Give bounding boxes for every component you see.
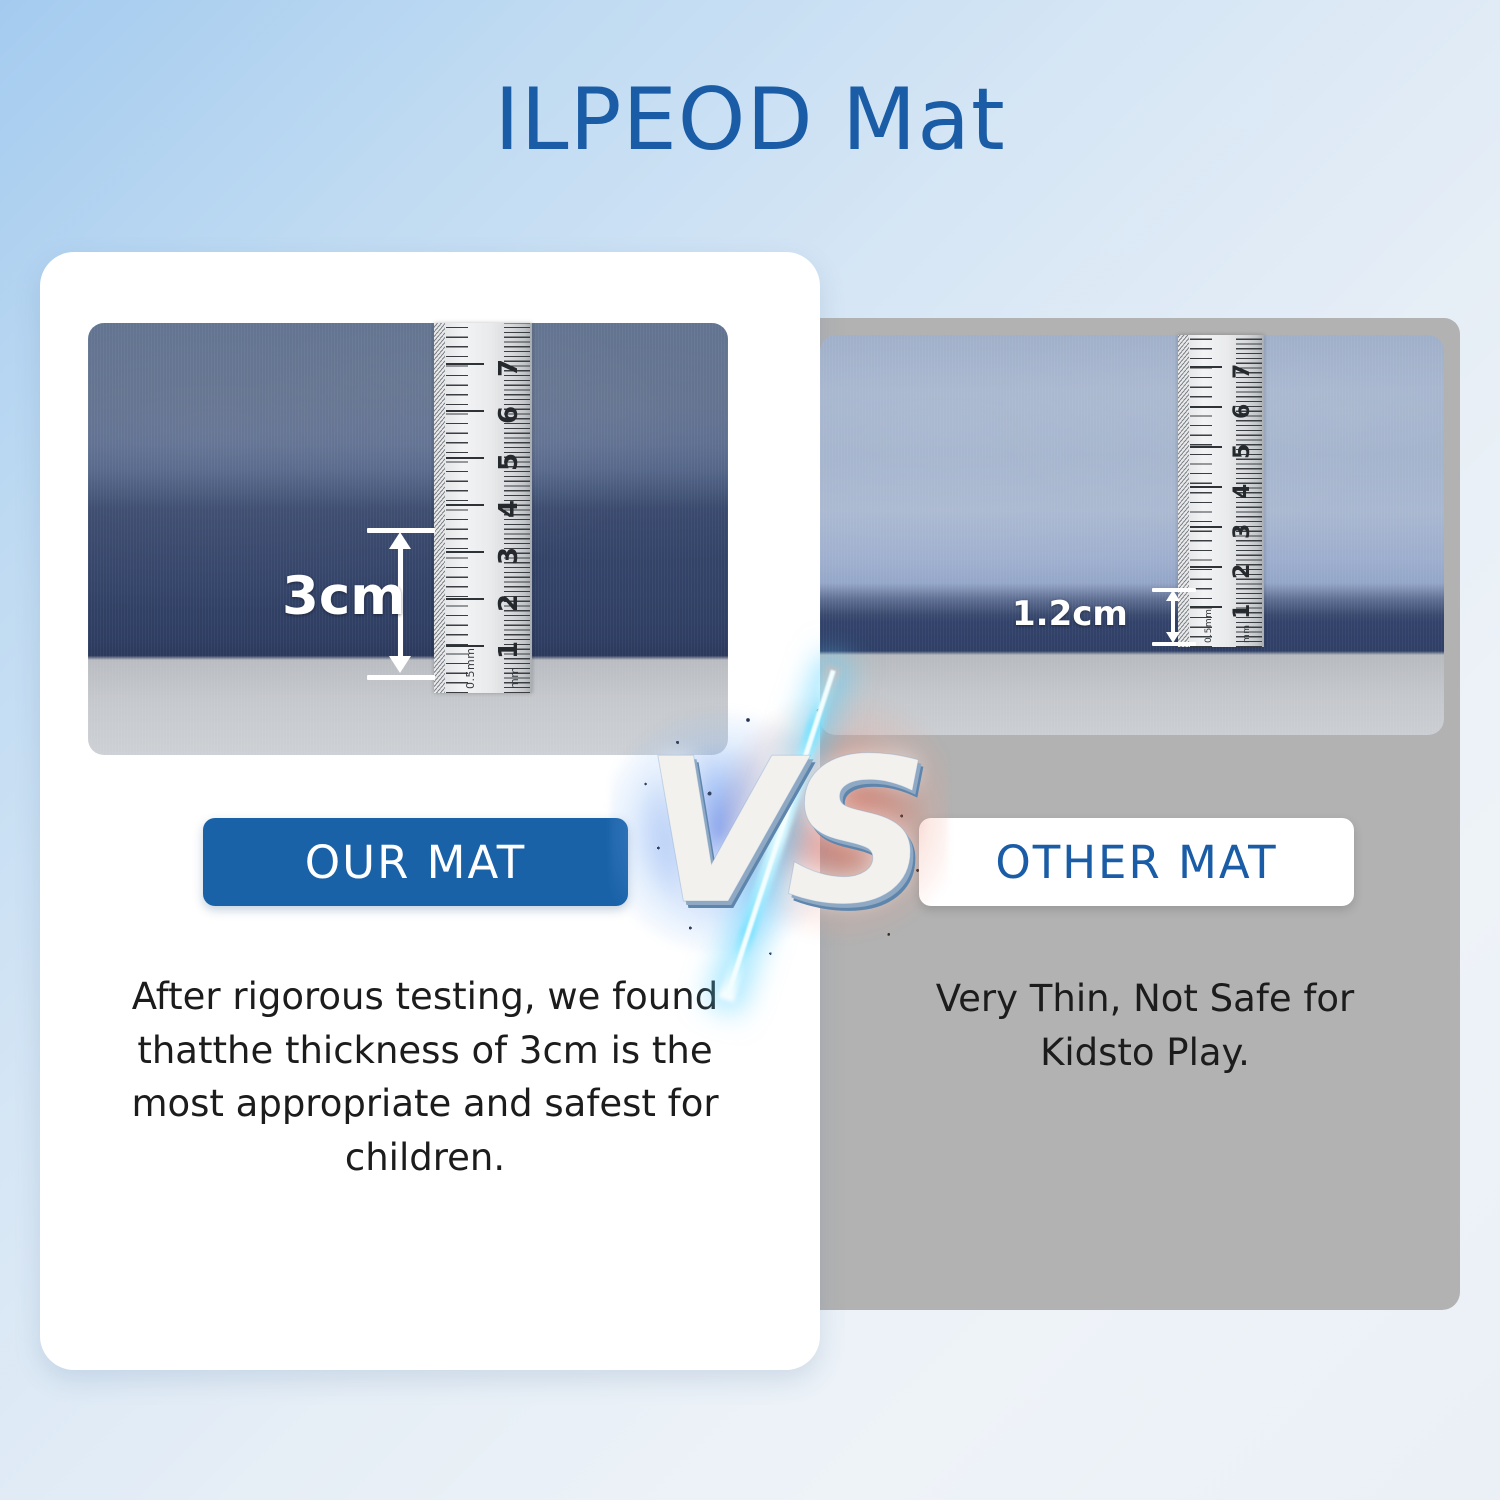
ruler-mark-7: 7 xyxy=(494,359,524,377)
measure-arrow-down-icon xyxy=(1166,632,1180,643)
ruler-mark-2: 2 xyxy=(1230,564,1255,579)
ruler-label-mm: mm xyxy=(1242,624,1252,643)
vs-badge: VS xyxy=(620,672,940,992)
our-mat-description: After rigorous testing, we found thatthe… xyxy=(130,970,720,1185)
measurement-label-other: 1.2cm xyxy=(1012,594,1128,634)
measure-arrow-down-icon xyxy=(389,656,411,673)
measurement-1-2cm: 1.2cm xyxy=(1060,588,1190,646)
ruler-label-half-mm: 0.5mm xyxy=(1204,609,1214,643)
ruler-mark-4: 4 xyxy=(1230,484,1255,499)
ruler-mark-1: 1 xyxy=(494,641,524,659)
measure-arrow-up-icon xyxy=(1166,590,1180,601)
ruler-mark-7: 7 xyxy=(1230,364,1255,379)
ruler-ticks-left xyxy=(1190,335,1212,647)
measurement-label-our: 3cm xyxy=(282,566,406,627)
other-mat-badge[interactable]: OTHER MAT xyxy=(919,818,1354,906)
ruler-ticks-left xyxy=(446,323,468,693)
measure-arrow-up-icon xyxy=(389,532,411,549)
ruler-mark-4: 4 xyxy=(494,500,524,518)
ruler-mark-1: 1 xyxy=(1230,604,1255,619)
ruler-mark-6: 6 xyxy=(494,406,524,424)
other-mat-badge-label: OTHER MAT xyxy=(995,836,1277,889)
ruler-knurled-edge-icon xyxy=(434,323,445,693)
ruler-mark-5: 5 xyxy=(1230,444,1255,459)
ruler-left: 1 2 3 4 5 6 7 0.5mm mm xyxy=(434,323,532,693)
ruler-label-half-mm: 0.5mm xyxy=(464,648,477,689)
our-mat-badge-label: OUR MAT xyxy=(305,836,527,889)
ruler-right: 1 2 3 4 5 6 7 0.5mm mm xyxy=(1178,335,1264,647)
page-title: ILPEOD Mat xyxy=(0,70,1500,170)
ruler-mark-2: 2 xyxy=(494,594,524,612)
ruler-label-mm: mm xyxy=(508,667,521,689)
our-mat-badge[interactable]: OUR MAT xyxy=(203,818,628,906)
other-mat-description: Very Thin, Not Safe for Kidsto Play. xyxy=(895,972,1395,1079)
measurement-3cm: 3cm xyxy=(285,528,435,680)
vs-label: VS xyxy=(620,672,940,992)
ruler-mark-3: 3 xyxy=(1230,524,1255,539)
ruler-mark-5: 5 xyxy=(494,453,524,471)
measure-cap-bottom xyxy=(367,675,435,680)
ruler-mark-6: 6 xyxy=(1230,404,1255,419)
ruler-mark-3: 3 xyxy=(494,547,524,565)
